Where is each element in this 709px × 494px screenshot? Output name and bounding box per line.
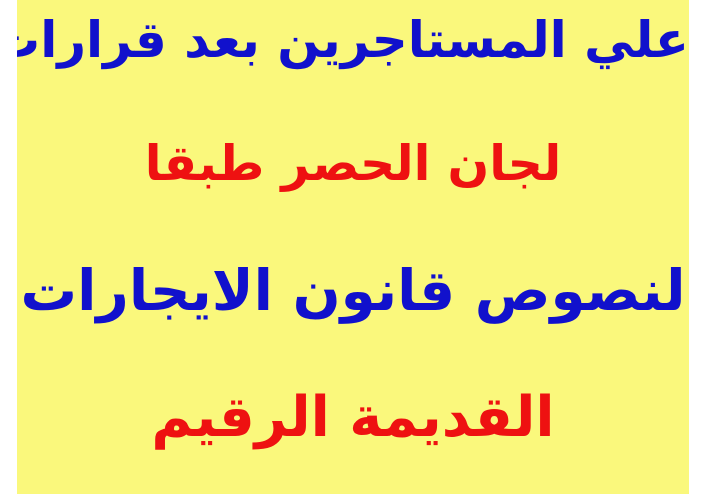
headline-line-1: علي المستاجرين بعد قرارات <box>17 16 689 66</box>
banner-image: علي المستاجرين بعد قرارات لجان الحصر طبق… <box>0 0 709 494</box>
headline-line-2: لجان الحصر طبقا <box>17 140 689 189</box>
yellow-background-panel: علي المستاجرين بعد قرارات لجان الحصر طبق… <box>17 0 689 494</box>
headline-line-4: القديمة الرقيم <box>17 390 689 446</box>
headline-line-3: لنصوص قانون الايجارات <box>17 264 689 320</box>
